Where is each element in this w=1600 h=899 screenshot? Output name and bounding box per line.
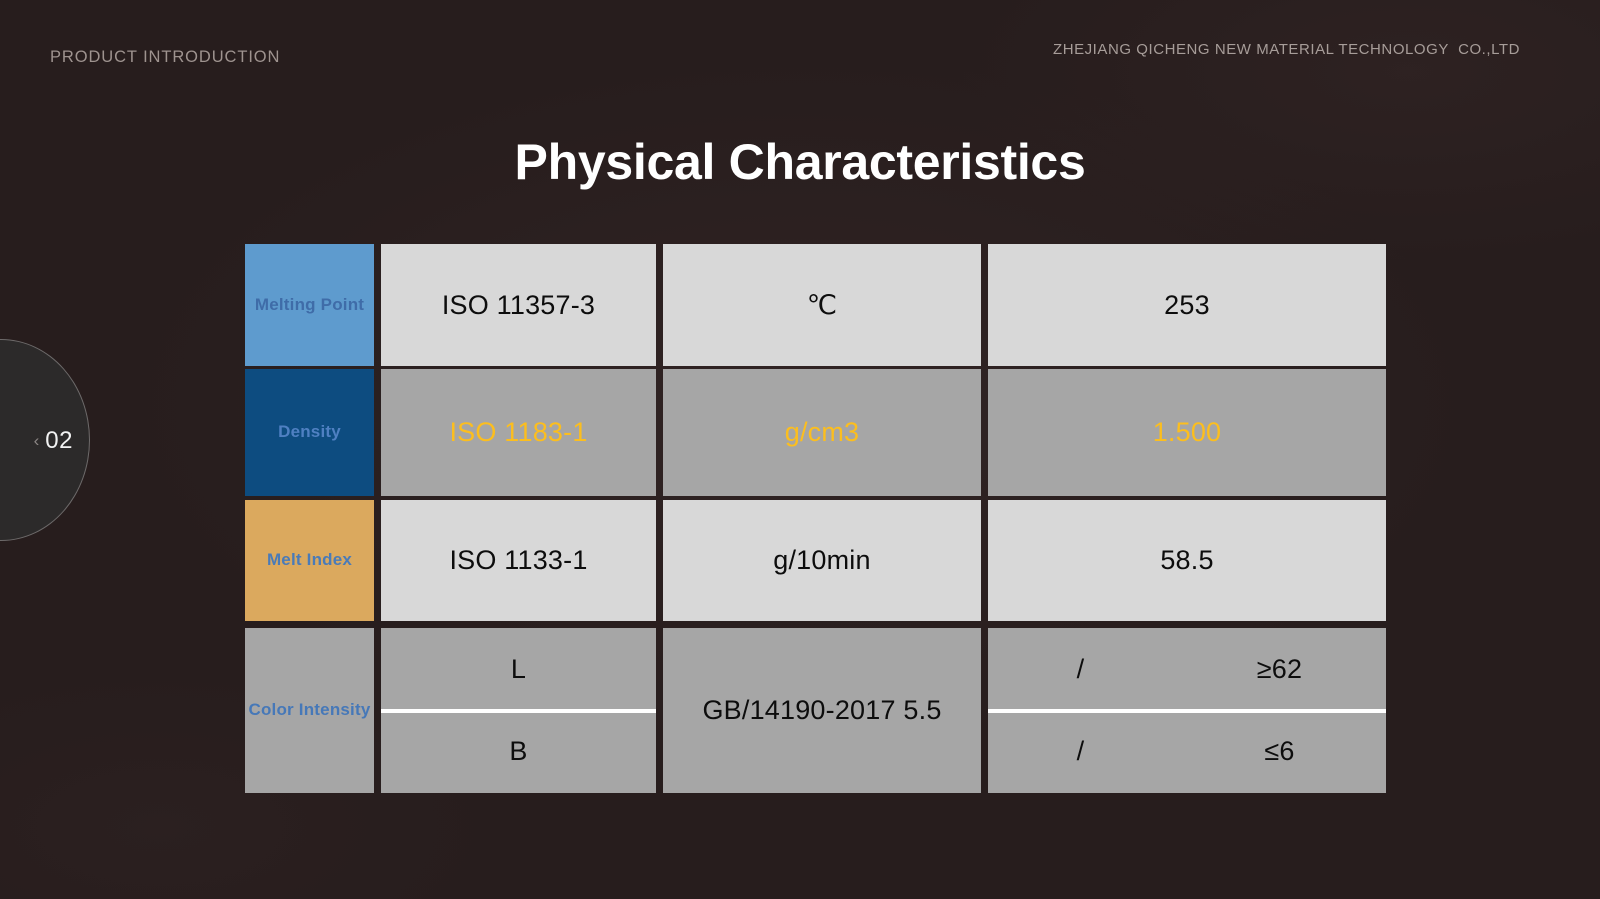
cell-value-text: g/cm3 bbox=[785, 417, 860, 448]
table-row: Density ISO 1183-1 g/cm3 1.500 bbox=[245, 369, 1386, 496]
cell-value: 1.500 bbox=[988, 369, 1386, 496]
cell-standard: ISO 11357-3 bbox=[381, 244, 656, 366]
cell-value-text: L bbox=[511, 654, 526, 685]
row-label-color-intensity: Color Intensity bbox=[245, 628, 374, 793]
table-row: Color Intensity L B GB/14190-2017 5.5 / … bbox=[245, 628, 1386, 793]
cell-value-text: ≥62 bbox=[1173, 654, 1386, 685]
row-label-melting-point: Melting Point bbox=[245, 244, 374, 366]
cell-value-text: ISO 1133-1 bbox=[449, 545, 587, 576]
cell-value-text: / bbox=[988, 736, 1173, 767]
row-label-text: Melt Index bbox=[267, 549, 352, 572]
cell-unit: g/10min bbox=[663, 500, 981, 621]
company-name: ZHEJIANG QICHENG NEW MATERIAL TECHNOLOGY… bbox=[1053, 41, 1520, 58]
cell-value-text: ≤6 bbox=[1173, 736, 1386, 767]
table-row: Melt Index ISO 1133-1 g/10min 58.5 bbox=[245, 500, 1386, 621]
row-label-text: Melting Point bbox=[255, 294, 364, 317]
chevron-left-icon[interactable]: ‹ bbox=[34, 432, 40, 449]
row-label-text: Color Intensity bbox=[248, 699, 370, 722]
page-number-bubble[interactable]: ‹ 02 bbox=[0, 339, 90, 541]
cell-unit: GB/14190-2017 5.5 bbox=[663, 628, 981, 793]
cell-value-text: / bbox=[988, 654, 1173, 685]
cell-value-text: ISO 11357-3 bbox=[442, 290, 595, 321]
cell-standard-split: L B bbox=[381, 628, 656, 793]
page-number-label: 02 bbox=[45, 427, 73, 455]
row-label-density: Density bbox=[245, 369, 374, 496]
row-label-melt-index: Melt Index bbox=[245, 500, 374, 621]
cell-value-text: 1.500 bbox=[1153, 417, 1222, 448]
cell-split-divider bbox=[381, 709, 656, 713]
cell-unit: ℃ bbox=[663, 244, 981, 366]
row-label-text: Density bbox=[278, 421, 341, 444]
cell-value-text: 58.5 bbox=[1160, 545, 1213, 576]
cell-value-text: ISO 1183-1 bbox=[449, 417, 587, 448]
section-kicker: PRODUCT INTRODUCTION bbox=[50, 48, 280, 67]
cell-standard-top: L bbox=[381, 628, 656, 711]
cell-value-text: ℃ bbox=[807, 290, 838, 321]
page-title: Physical Characteristics bbox=[0, 133, 1600, 191]
cell-value-split: / ≥62 / ≤6 bbox=[988, 628, 1386, 793]
cell-standard-bottom: B bbox=[381, 711, 656, 794]
cell-split-divider bbox=[988, 709, 1386, 713]
cell-value-top: / ≥62 bbox=[988, 628, 1386, 711]
cell-unit: g/cm3 bbox=[663, 369, 981, 496]
cell-standard: ISO 1133-1 bbox=[381, 500, 656, 621]
cell-value-text: GB/14190-2017 5.5 bbox=[702, 695, 941, 726]
page-number-bubble-inner: ‹ 02 bbox=[0, 340, 91, 542]
physical-characteristics-table: Melting Point ISO 11357-3 ℃ 253 Density … bbox=[245, 244, 1386, 793]
cell-value-text: g/10min bbox=[773, 545, 870, 576]
cell-value-bottom: / ≤6 bbox=[988, 711, 1386, 794]
cell-value: 58.5 bbox=[988, 500, 1386, 621]
cell-value: 253 bbox=[988, 244, 1386, 366]
cell-value-text: 253 bbox=[1164, 290, 1210, 321]
table-row: Melting Point ISO 11357-3 ℃ 253 bbox=[245, 244, 1386, 366]
cell-standard: ISO 1183-1 bbox=[381, 369, 656, 496]
cell-value-text: B bbox=[509, 736, 527, 767]
